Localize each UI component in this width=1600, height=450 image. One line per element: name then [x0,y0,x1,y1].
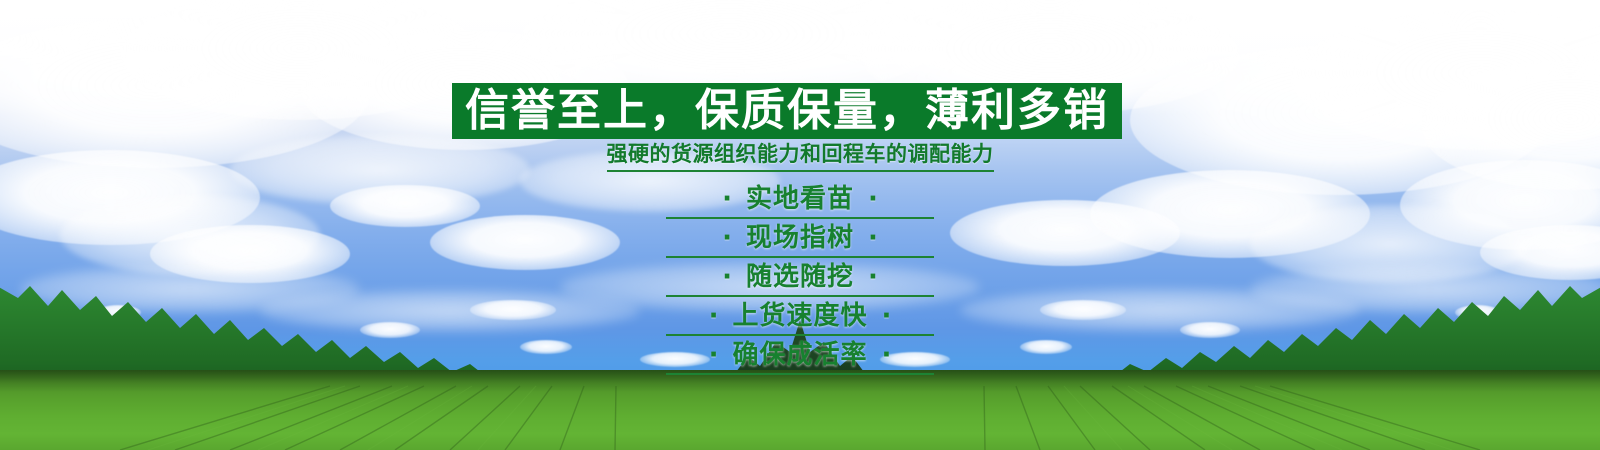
bullet-dot-icon: · [882,303,892,329]
feature-label: 上货速度快 [732,303,867,329]
feature-list: · 实地看苗 · · 现场指树 · · 随选随挖 · · 上货速度快 · · [0,180,1600,375]
feature-item-shidikanmiao: · 实地看苗 · [666,180,934,219]
feature-label: 实地看苗 [746,186,854,212]
bullet-dot-icon: · [868,225,878,251]
bullet-dot-icon: · [882,342,892,368]
headline-text: 信誉至上，保质保量，薄利多销 [465,89,1109,133]
subtitle-text: 强硬的货源组织能力和回程车的调配能力 [607,143,994,172]
subtitle-container: 强硬的货源组织能力和回程车的调配能力 [0,143,1600,172]
bullet-dot-icon: · [868,264,878,290]
bullet-dot-icon: · [709,303,719,329]
feature-label: 确保成活率 [732,342,867,368]
feature-item-quebaochenghuolv: · 确保成活率 · [666,336,934,375]
bullet-dot-icon: · [709,342,719,368]
feature-item-shanghuosudukuai: · 上货速度快 · [666,297,934,336]
feature-label: 随选随挖 [746,264,854,290]
promotional-banner: 信誉至上，保质保量，薄利多销 强硬的货源组织能力和回程车的调配能力 · 实地看苗… [0,0,1600,450]
banner-text-overlay: 信誉至上，保质保量，薄利多销 强硬的货源组织能力和回程车的调配能力 · 实地看苗… [0,0,1600,450]
bullet-dot-icon: · [868,186,878,212]
bullet-dot-icon: · [722,186,732,212]
bullet-dot-icon: · [722,264,732,290]
headline-bar: 信誉至上，保质保量，薄利多销 [452,83,1122,139]
feature-item-suixuansuiwa: · 随选随挖 · [666,258,934,297]
bullet-dot-icon: · [722,225,732,251]
feature-item-xianchangzhishu: · 现场指树 · [666,219,934,258]
feature-label: 现场指树 [746,225,854,251]
